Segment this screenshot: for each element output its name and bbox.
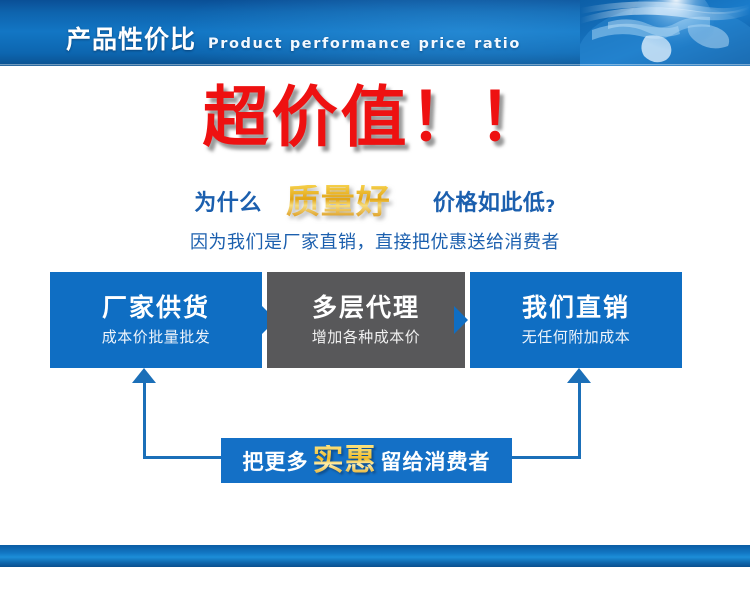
flow-box-title: 多层代理	[312, 294, 420, 322]
sub-headline-right: 价格如此低	[433, 185, 546, 219]
flow-box-direct-sales: 我们直销 无任何附加成本	[470, 272, 682, 368]
sub-headline-highlight: 质量好	[286, 185, 391, 219]
header-title-group: 产品性价比 Product performance price ratio	[66, 20, 521, 56]
globe-icon	[580, 0, 750, 66]
footer-bar	[0, 545, 750, 567]
header-bottom-highlight	[0, 64, 750, 66]
flow-box-title: 我们直销	[522, 294, 630, 322]
bottom-banner-prefix: 把更多	[243, 446, 309, 476]
bottom-banner-suffix: 留给消费者	[381, 446, 491, 476]
bottom-banner: 把更多 实惠 留给消费者	[221, 438, 512, 483]
header-title-cn: 产品性价比	[66, 20, 196, 56]
flow-box-agents: 多层代理 增加各种成本价	[267, 272, 465, 368]
connector-vertical-right	[578, 382, 581, 459]
bottom-banner-highlight: 实惠	[313, 445, 377, 476]
connector-horizontal-right	[511, 456, 581, 459]
flow-box-manufacturer: 厂家供货 成本价批量批发	[50, 272, 262, 368]
flow-box-subtitle: 增加各种成本价	[312, 326, 421, 347]
main-title: 超价值！！	[0, 85, 750, 151]
arrow-up-icon-left	[132, 368, 156, 383]
connector-vertical-left	[143, 382, 146, 459]
product-value-infographic: 产品性价比 Product performance price ratio 超价…	[0, 0, 750, 590]
chevron-right-icon-2	[454, 306, 468, 334]
sub-headline-question-mark: ?	[545, 197, 555, 219]
flow-box-subtitle: 成本价批量批发	[102, 326, 211, 347]
flow-box-title: 厂家供货	[102, 294, 210, 322]
flow-diagram: 厂家供货 成本价批量批发 多层代理 增加各种成本价 我们直销 无任何附加成本	[50, 272, 682, 368]
flow-box-subtitle: 无任何附加成本	[522, 326, 631, 347]
header-banner: 产品性价比 Product performance price ratio	[0, 0, 750, 66]
sub-headline-left: 为什么	[194, 185, 262, 219]
arrow-up-icon-right	[567, 368, 591, 383]
sub-headline-row: 为什么 质量好 价格如此低 ?	[0, 185, 750, 219]
header-title-en: Product performance price ratio	[208, 36, 521, 52]
sub-headline-explanation: 因为我们是厂家直销，直接把优惠送给消费者	[0, 228, 750, 254]
connector-horizontal-left	[143, 456, 223, 459]
